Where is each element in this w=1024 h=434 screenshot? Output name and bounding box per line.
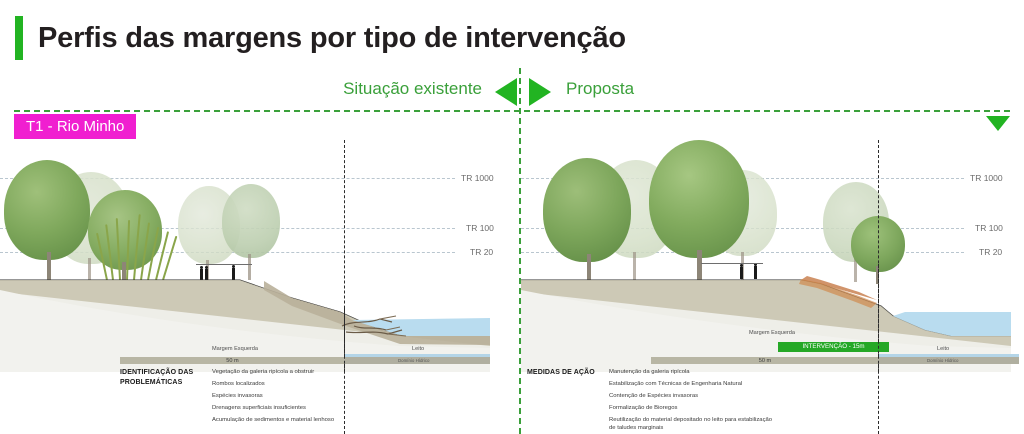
list-item: Rombos localizados bbox=[212, 381, 344, 389]
triangle-down-marker-icon bbox=[986, 116, 1010, 131]
proposta-label: Proposta bbox=[566, 79, 634, 99]
list-item: Estabilização com Técnicas de Engenharia… bbox=[609, 381, 779, 389]
scale-50m-label: 50 m bbox=[120, 358, 345, 364]
page-title: Perfis das margens por tipo de intervenç… bbox=[38, 16, 626, 60]
proposal-panel: TR 1000 TR 100 TR 20 bbox=[521, 140, 1024, 434]
existing-situation-panel: TR 1000 TR 100 TR 20 bbox=[0, 140, 519, 434]
triangle-right-icon[interactable] bbox=[529, 78, 551, 106]
problems-list-title: IDENTIFICAÇÃO DAS PROBLEMÁTICAS bbox=[120, 368, 193, 388]
margem-esquerda-label: Margem Esquerda bbox=[749, 330, 795, 336]
list-item: Drenagens superficiais insuficientes bbox=[212, 405, 344, 413]
intervention-bar: INTERVENÇÃO - 15m bbox=[778, 342, 889, 352]
log-branch bbox=[342, 319, 402, 334]
list-item: Formalização de Bioregos bbox=[609, 405, 779, 413]
problems-title-line2: PROBLEMÁTICAS bbox=[120, 379, 182, 386]
scale-50m-label: 50 m bbox=[651, 358, 879, 364]
status-badge: T1 - Rio Minho bbox=[14, 114, 136, 139]
page-header: Perfis das margens por tipo de intervenç… bbox=[0, 0, 1024, 66]
leito-label: Leito bbox=[412, 346, 424, 352]
fallen-logs-svg bbox=[340, 308, 460, 348]
comparison-toggle-bar: Situação existente Proposta bbox=[0, 70, 1024, 110]
left-panel-section-line bbox=[344, 140, 345, 434]
dominio-hidrico-label: Domínio Hídrico bbox=[927, 358, 958, 363]
title-accent-bar bbox=[15, 16, 23, 60]
existing-section-drawing: TR 1000 TR 100 TR 20 bbox=[0, 140, 519, 372]
triangle-left-icon[interactable] bbox=[495, 78, 517, 106]
horizontal-divider bbox=[14, 110, 1010, 112]
list-item: Espécies invasoras bbox=[212, 393, 344, 401]
list-item: Reutilização do material depositado no l… bbox=[609, 417, 779, 433]
actions-list-title: MEDIDAS DE AÇÃO bbox=[527, 368, 595, 378]
profile-comparison-page: Perfis das margens por tipo de intervenç… bbox=[0, 0, 1024, 434]
leito-label: Leito bbox=[937, 346, 949, 352]
terrain-profile-svg bbox=[521, 140, 1024, 372]
list-item: Manutenção da galeria ripícola bbox=[609, 369, 779, 377]
proposal-section-drawing: TR 1000 TR 100 TR 20 bbox=[521, 140, 1024, 372]
situacao-existente-label: Situação existente bbox=[343, 79, 482, 99]
list-item: Acumulação de sedimentos e material lenh… bbox=[212, 417, 344, 425]
dominio-hidrico-label: Domínio Hídrico bbox=[398, 358, 429, 363]
problems-title-line1: IDENTIFICAÇÃO DAS bbox=[120, 369, 193, 376]
problems-items: Vegetação da galeria ripícola a obstruir… bbox=[212, 369, 344, 429]
list-item: Vegetação da galeria ripícola a obstruir bbox=[212, 369, 344, 377]
list-item: Contenção de Espécies invasoras bbox=[609, 393, 779, 401]
right-panel-section-line bbox=[878, 140, 879, 434]
actions-items: Manutenção da galeria ripícola Estabiliz… bbox=[609, 369, 779, 434]
margem-esquerda-label: Margem Esquerda bbox=[212, 346, 258, 352]
